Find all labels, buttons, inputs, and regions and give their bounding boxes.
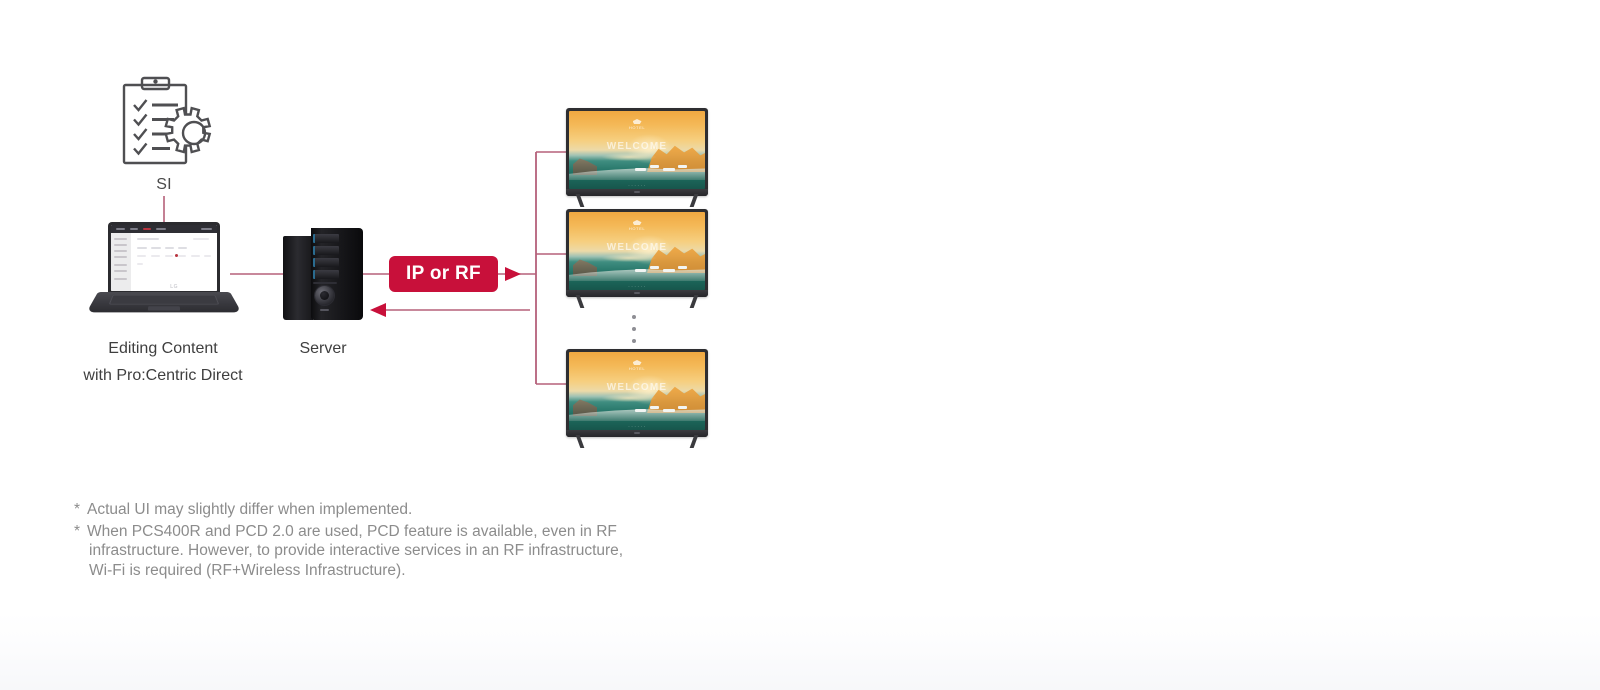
ip-or-rf-badge: IP or RF bbox=[389, 256, 498, 292]
tv-welcome-text: WELCOME bbox=[569, 141, 705, 152]
tv-frame: HOTEL WELCOME - - - - - - bbox=[566, 349, 708, 437]
laptop-lid: LG bbox=[108, 222, 220, 294]
tv-chin bbox=[566, 430, 708, 437]
tv-screen: HOTEL WELCOME - - - - - - bbox=[569, 352, 705, 430]
hotel-brand-mark: HOTEL bbox=[569, 220, 705, 231]
hotel-brand-mark: HOTEL bbox=[569, 360, 705, 371]
laptop-base bbox=[86, 292, 241, 312]
si-label: SI bbox=[112, 176, 216, 194]
arrowhead-return bbox=[370, 303, 386, 317]
clipboard-gear-icon bbox=[112, 72, 216, 172]
more-tvs-ellipsis-icon bbox=[632, 315, 640, 347]
tv-bottom-strip: - - - - - - bbox=[569, 284, 705, 288]
hotel-brand-text: HOTEL bbox=[629, 366, 645, 371]
tv-chin bbox=[566, 189, 708, 196]
laptop-label-line2: with Pro:Centric Direct bbox=[83, 367, 242, 384]
server-label: Server bbox=[263, 335, 383, 362]
app-content: LG bbox=[131, 233, 217, 291]
footnote-2-line1: When PCS400R and PCD 2.0 are used, PCD f… bbox=[87, 523, 617, 540]
footnote-2-line3: Wi-Fi is required (RF+Wireless Infrastru… bbox=[74, 561, 794, 581]
footnote-2-line2: infrastructure. However, to provide inte… bbox=[74, 541, 794, 561]
laptop-label-line1: Editing Content bbox=[108, 340, 217, 357]
footnote-1-line1: Actual UI may slightly differ when imple… bbox=[87, 501, 412, 518]
footnote-2: *When PCS400R and PCD 2.0 are used, PCD … bbox=[74, 522, 794, 581]
app-topbar bbox=[111, 225, 217, 233]
hotel-brand-mark: HOTEL bbox=[569, 119, 705, 130]
tv-welcome-text: WELCOME bbox=[569, 242, 705, 253]
footnote-1: *Actual UI may slightly differ when impl… bbox=[74, 500, 794, 520]
tv-welcome-text: WELCOME bbox=[569, 382, 705, 393]
server-node bbox=[283, 228, 363, 320]
server-power-button bbox=[315, 286, 334, 305]
laptop-keyboard bbox=[109, 295, 220, 305]
tv-bottom-strip: - - - - - - bbox=[569, 424, 705, 428]
tv-1: HOTEL WELCOME - - - - - - bbox=[566, 108, 708, 208]
laptop-node: LG bbox=[98, 222, 230, 326]
tv-chin bbox=[566, 290, 708, 297]
page-canvas: SI bbox=[0, 0, 1600, 690]
tv-2: HOTEL WELCOME - - - - - - bbox=[566, 209, 708, 309]
tv-screen: HOTEL WELCOME - - - - - - bbox=[569, 111, 705, 189]
architecture-diagram: SI bbox=[0, 0, 820, 470]
tv-3: HOTEL WELCOME - - - - - - bbox=[566, 349, 708, 449]
app-sidebar bbox=[111, 233, 131, 291]
laptop-brand-logo: LG bbox=[131, 284, 217, 290]
tv-frame: HOTEL WELCOME - - - - - - bbox=[566, 108, 708, 196]
footnote-2-star: * bbox=[74, 522, 87, 542]
tv-bottom-strip: - - - - - - bbox=[569, 183, 705, 187]
server-front-panel bbox=[311, 228, 363, 320]
laptop-label: Editing Content with Pro:Centric Direct bbox=[45, 335, 281, 389]
footnotes: *Actual UI may slightly differ when impl… bbox=[74, 500, 794, 582]
tv-screen: HOTEL WELCOME - - - - - - bbox=[569, 212, 705, 290]
tv-frame: HOTEL WELCOME - - - - - - bbox=[566, 209, 708, 297]
arrowhead-forward bbox=[505, 267, 521, 281]
footnote-1-star: * bbox=[74, 500, 87, 520]
server-side-panel bbox=[283, 236, 313, 320]
bottom-gradient-band bbox=[0, 612, 1600, 690]
laptop-screen: LG bbox=[111, 225, 217, 291]
hotel-brand-text: HOTEL bbox=[629, 125, 645, 130]
laptop-trackpad bbox=[148, 306, 180, 310]
hotel-brand-text: HOTEL bbox=[629, 226, 645, 231]
